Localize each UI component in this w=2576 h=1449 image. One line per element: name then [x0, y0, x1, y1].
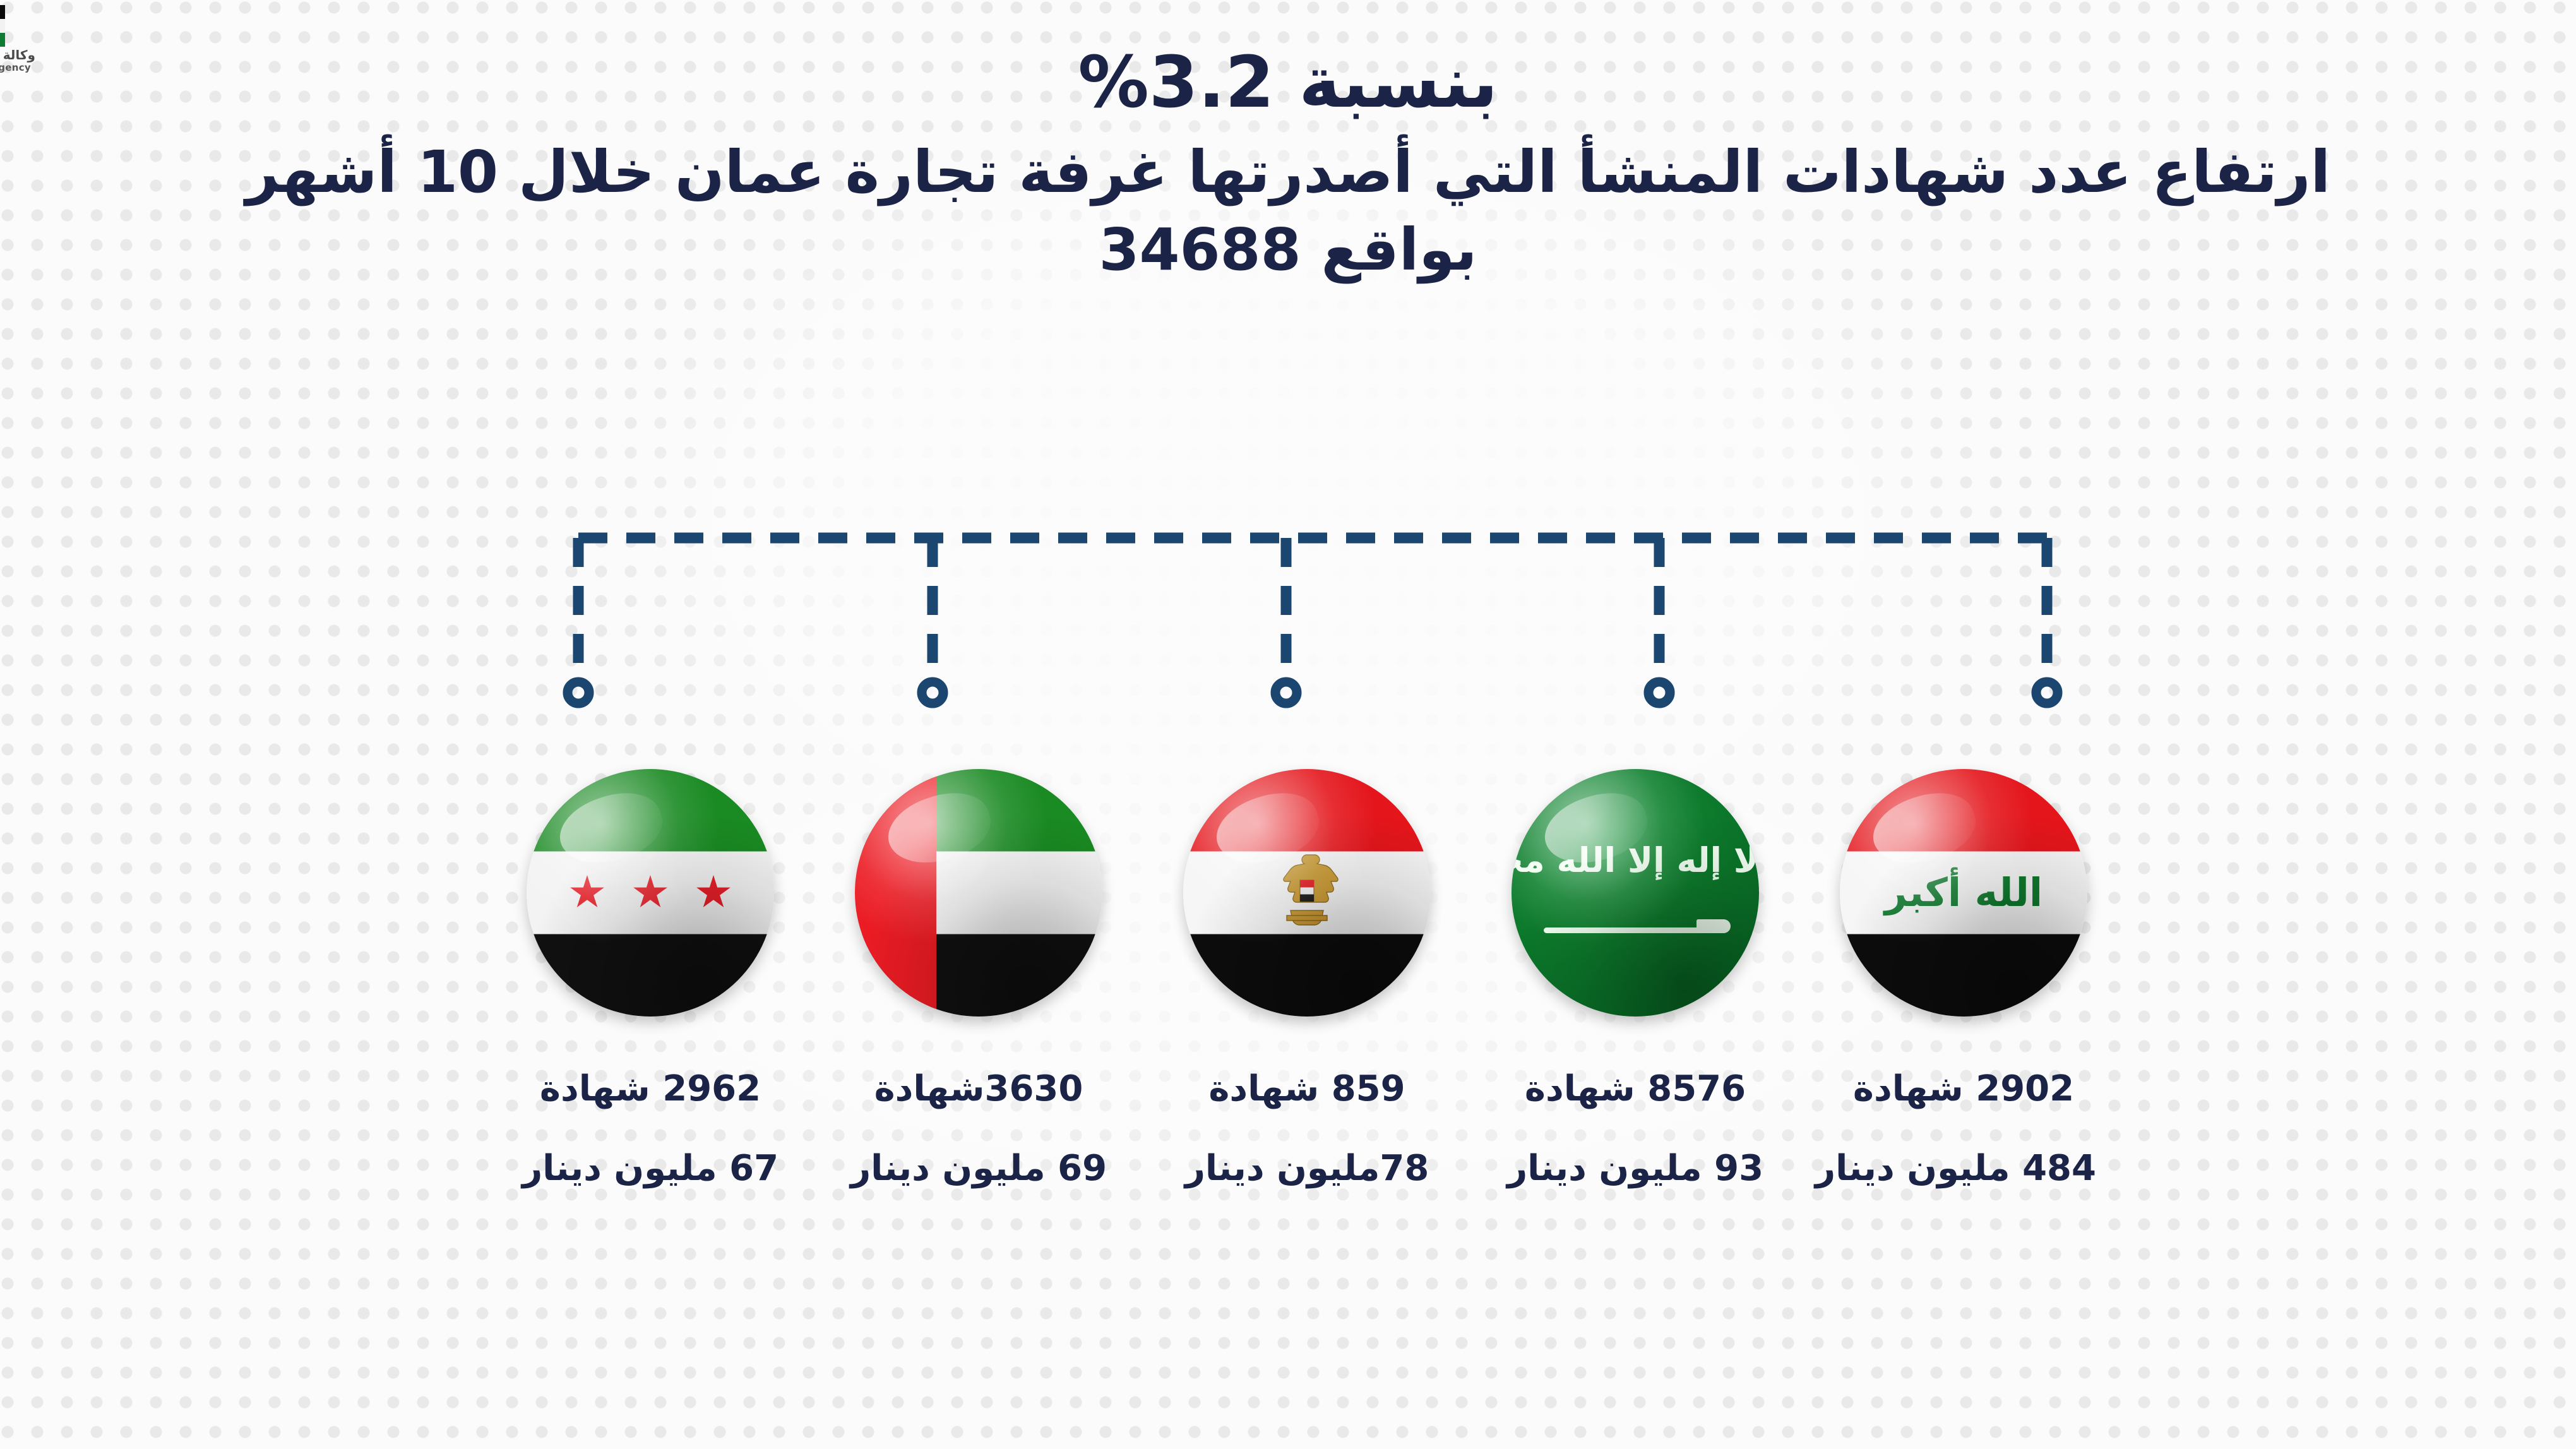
badge-gloss — [1512, 769, 1759, 1017]
headline-line-1: بنسبة 3.2% — [0, 37, 2576, 130]
country-column-iraq: الله أكبر — [1831, 769, 2096, 1017]
eagle-of-saladin-icon — [1272, 852, 1342, 933]
star-icon — [696, 875, 731, 910]
certificates-count-syria: 2962 شهادة — [518, 1067, 783, 1111]
country-column-syria — [518, 769, 783, 1017]
iraq-takbir-inscription: الله أكبر — [1840, 873, 2087, 912]
connector-node-3 — [1275, 682, 1297, 703]
uae-red-hoist — [855, 769, 936, 1017]
connector-node-4 — [1649, 682, 1670, 703]
headline-line-2: ارتفاع عدد شهادات المنشأ التي أصدرتها غر… — [0, 134, 2576, 210]
trade-value-syria: 67 مليون دينار — [518, 1147, 783, 1191]
label-column-egypt: 859 شهادة 78مليون دينار — [1174, 1067, 1440, 1282]
country-column-uae — [846, 769, 1111, 1017]
trade-value-uae: 69 مليون دينار — [846, 1147, 1111, 1191]
saudi-sword-icon — [1544, 927, 1727, 933]
label-column-iraq: 2902 شهادة 484 مليون دينار — [1831, 1067, 2096, 1282]
certificates-count-saudi-arabia: 8576 شهادة — [1503, 1067, 1768, 1111]
iraq-flag: الله أكبر — [1840, 769, 2087, 1017]
country-column-saudi-arabia: لا إله إلا الله محمد رسول الله — [1503, 769, 1768, 1017]
uae-flag — [855, 769, 1102, 1017]
syria-flag — [527, 769, 774, 1017]
trade-value-iraq: 484 مليون دينار — [1831, 1147, 2096, 1191]
certificates-count-iraq: 2902 شهادة — [1831, 1067, 2096, 1111]
connector-node-2 — [922, 682, 943, 703]
trade-value-saudi-arabia: 93 مليون دينار — [1503, 1147, 1768, 1191]
flag-row: لا إله إلا الله محمد رسول الله الله أكبر — [518, 769, 2096, 1034]
label-column-uae: 3630شهادة 69 مليون دينار — [846, 1067, 1111, 1282]
star-icon — [633, 875, 668, 910]
label-column-saudi-arabia: 8576 شهادة 93 مليون دينار — [1503, 1067, 1768, 1282]
headline-line-3: بواقع 34688 — [0, 212, 2576, 288]
saudi-shahada-inscription: لا إله إلا الله محمد رسول الله — [1512, 844, 1759, 878]
value-label-row: 2962 شهادة 67 مليون دينار 3630شهادة 69 م… — [518, 1067, 2096, 1282]
connector-node-5 — [2036, 682, 2058, 703]
headline-block: بنسبة 3.2% ارتفاع عدد شهادات المنشأ التي… — [0, 37, 2576, 289]
saudi-arabia-flag: لا إله إلا الله محمد رسول الله — [1512, 769, 1759, 1017]
certificates-count-egypt: 859 شهادة — [1174, 1067, 1440, 1111]
connector-node-1 — [568, 682, 589, 703]
trade-value-egypt: 78مليون دينار — [1174, 1147, 1440, 1191]
infographic-canvas: وكالة الأنباء الأردنية Jordan News Agenc… — [0, 0, 2576, 1449]
certificates-count-uae: 3630شهادة — [846, 1067, 1111, 1111]
label-column-syria: 2962 شهادة 67 مليون دينار — [518, 1067, 783, 1282]
star-icon — [569, 875, 605, 910]
country-column-egypt — [1174, 769, 1440, 1017]
egypt-flag — [1183, 769, 1431, 1017]
syria-stars-icon — [527, 875, 774, 910]
